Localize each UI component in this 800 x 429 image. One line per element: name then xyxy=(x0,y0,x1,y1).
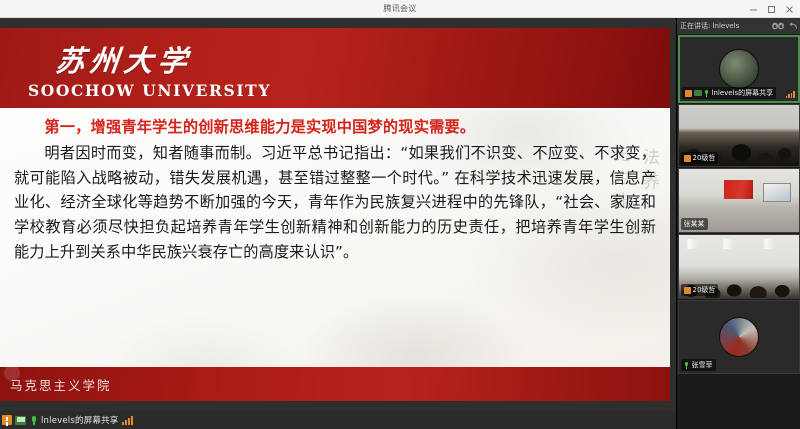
screen-share-icon[interactable] xyxy=(15,416,26,425)
university-logo-en: SOOCHOW UNIVERSITY xyxy=(28,81,271,100)
tile-badge: 张某某 xyxy=(681,218,708,230)
video-tile-lnlevels[interactable]: lnlevels的屏幕共享 xyxy=(678,35,800,103)
tile-badge: lnlevels的屏幕共享 xyxy=(682,87,777,99)
screen-share-icon xyxy=(694,90,702,96)
video-tile-classroom-1[interactable]: 20级哲 xyxy=(678,104,800,167)
maximize-icon[interactable] xyxy=(762,1,780,17)
participant-name: 张雪菲 xyxy=(692,360,713,370)
signal-bars-icon xyxy=(122,416,133,425)
warning-icon xyxy=(2,415,12,425)
eyes-icon[interactable] xyxy=(771,22,785,30)
participant-name: 20级哲 xyxy=(693,285,716,295)
microphone-icon xyxy=(704,90,710,97)
microphone-icon[interactable] xyxy=(29,415,38,425)
screen-share-statusbar[interactable]: lnlevels的屏幕共享 xyxy=(0,411,676,429)
speaker-strip-icons xyxy=(771,22,798,30)
slide-footer-department: 马克思主义学院 xyxy=(10,375,112,394)
video-tile-classroom-2[interactable]: 20级哲 xyxy=(678,234,800,299)
window-controls xyxy=(744,0,798,18)
signal-bars-icon xyxy=(786,91,795,98)
warning-icon xyxy=(684,287,691,294)
minimize-icon[interactable] xyxy=(744,1,762,17)
active-speaker-label: 正在讲话: lnlevels xyxy=(680,21,739,31)
close-icon[interactable] xyxy=(780,1,798,17)
window-titlebar: 腾讯会议 xyxy=(0,0,800,18)
avatar xyxy=(719,317,759,357)
university-logo-cn: 苏州大学 xyxy=(54,38,194,80)
warning-icon xyxy=(685,90,692,97)
slide-heading: 第一，增强青年学生的创新思维能力是实现中国梦的现实需要。 xyxy=(14,116,656,138)
app-title: 腾讯会议 xyxy=(383,3,416,14)
tile-badge: 张雪菲 xyxy=(681,359,716,371)
avatar xyxy=(719,49,759,89)
slide-footer-banner: 马克思主义学院 xyxy=(0,367,670,401)
tile-badge: 20级哲 xyxy=(681,284,719,296)
participant-name: 20级哲 xyxy=(693,153,716,163)
microphone-icon xyxy=(684,362,690,369)
active-speaker-strip: 正在讲话: lnlevels xyxy=(677,18,800,34)
participants-sidebar[interactable]: 正在讲话: lnlevels xyxy=(676,18,800,429)
ceiling-lights xyxy=(679,239,799,249)
undo-icon[interactable] xyxy=(789,22,798,30)
presentation-slide: 法 养 无 也 能 苏州大学 SOOCHOW UNIVERSITY 第一，增强青… xyxy=(0,28,670,401)
participant-name: lnlevels的屏幕共享 xyxy=(712,88,774,98)
shared-screen-area[interactable]: 法 养 无 也 能 苏州大学 SOOCHOW UNIVERSITY 第一，增强青… xyxy=(0,18,676,411)
slide-header-banner: 苏州大学 SOOCHOW UNIVERSITY xyxy=(0,28,670,110)
slide-paragraph: 明者因时而变，知者随事而制。习近平总书记指出：“如果我们不识变、不应变、不求变，… xyxy=(14,141,656,264)
video-tile-avatar-2[interactable]: 张雪菲 xyxy=(678,300,800,374)
warning-icon xyxy=(684,155,691,162)
tile-badge: 20级哲 xyxy=(681,152,719,164)
video-tile-meeting-room[interactable]: 张某某 xyxy=(678,168,800,233)
screen-share-label: lnlevels的屏幕共享 xyxy=(41,414,119,426)
participant-name: 张某某 xyxy=(684,219,705,229)
tencent-meeting-window: 腾讯会议 法 养 无 也 能 苏州大学 SOOCHOW UNIVERSITY 第 xyxy=(0,0,800,429)
slide-body: 第一，增强青年学生的创新思维能力是实现中国梦的现实需要。 明者因时而变，知者随事… xyxy=(0,116,670,264)
